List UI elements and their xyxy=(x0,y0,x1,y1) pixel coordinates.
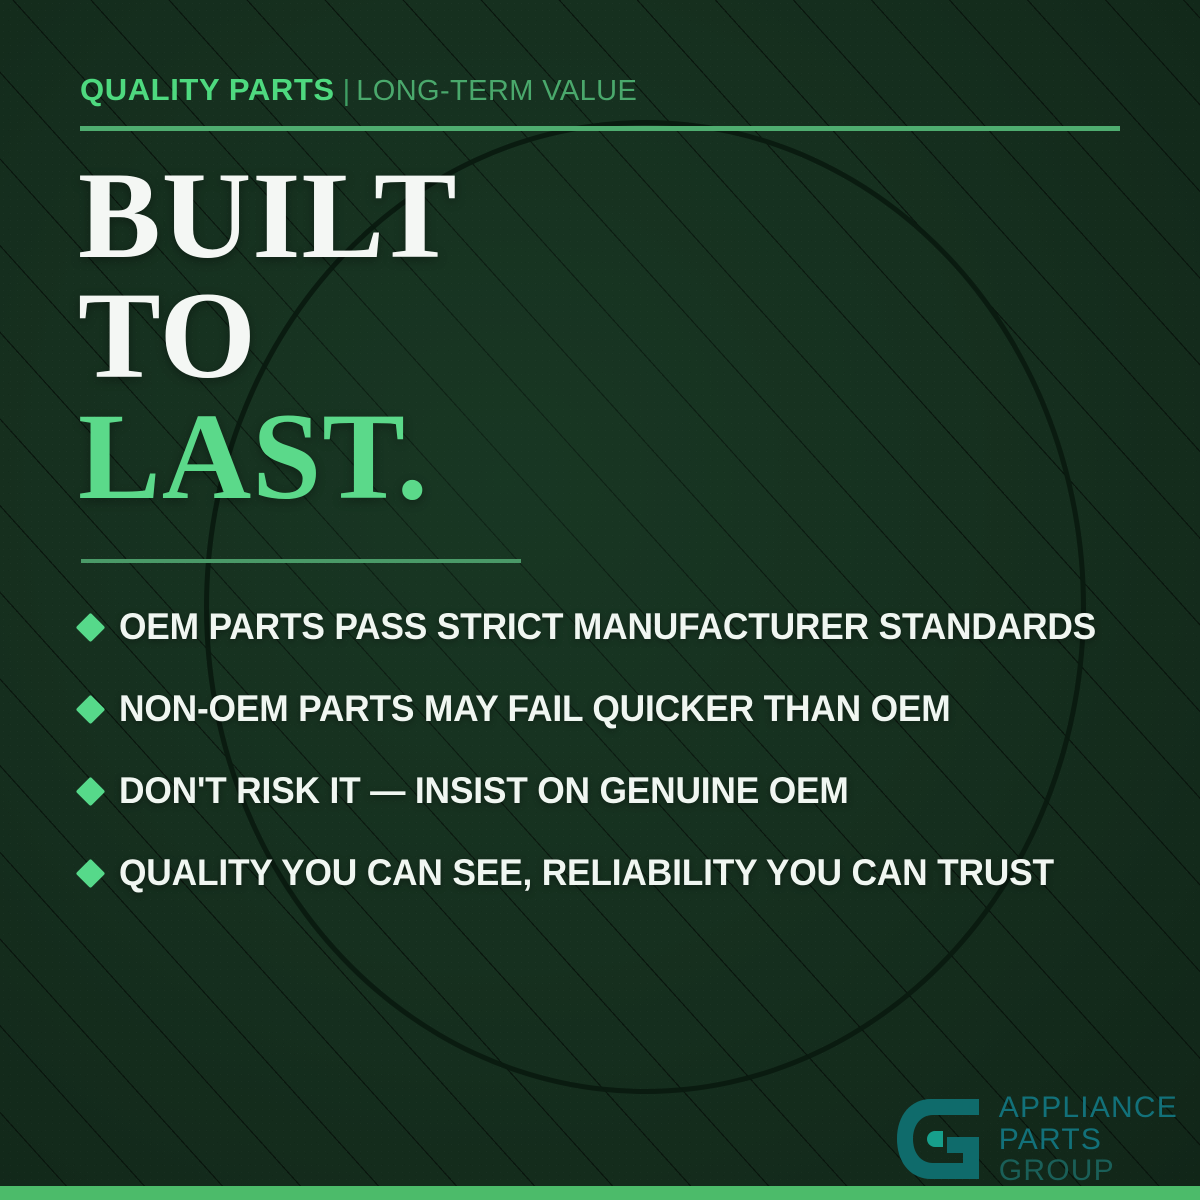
eyebrow-separator: | xyxy=(343,75,351,107)
brand-logo-wordmark: APPLIANCE PARTS GROUP xyxy=(999,1092,1178,1186)
headline-line-3: LAST. xyxy=(78,397,458,517)
diamond-icon xyxy=(76,858,106,888)
page-title: BUILT TO LAST. xyxy=(78,156,458,517)
list-item: NON-OEM PARTS MAY FAIL QUICKER THAN OEM xyxy=(80,668,1160,750)
diamond-icon xyxy=(76,612,106,642)
list-item-label: OEM PARTS PASS STRICT MANUFACTURER STAND… xyxy=(119,606,1096,648)
poster-canvas: QUALITY PARTS|LONG-TERM VALUE BUILT TO L… xyxy=(0,0,1200,1200)
headline-line-1: BUILT xyxy=(78,156,458,276)
list-item-label: NON-OEM PARTS MAY FAIL QUICKER THAN OEM xyxy=(119,688,950,730)
list-item-label: QUALITY YOU CAN SEE, RELIABILITY YOU CAN… xyxy=(119,852,1054,894)
g-monogram-icon xyxy=(891,1093,987,1185)
header-divider-rule xyxy=(80,126,1120,131)
eyebrow-kicker: QUALITY PARTS xyxy=(80,72,335,107)
eyebrow-subtitle: LONG-TERM VALUE xyxy=(356,75,637,107)
benefit-list: OEM PARTS PASS STRICT MANUFACTURER STAND… xyxy=(80,586,1160,914)
list-item-label: DON'T RISK IT — INSIST ON GENUINE OEM xyxy=(119,770,849,812)
list-item: QUALITY YOU CAN SEE, RELIABILITY YOU CAN… xyxy=(80,832,1160,914)
brand-logo: APPLIANCE PARTS GROUP xyxy=(891,1092,1178,1186)
diamond-icon xyxy=(76,776,106,806)
brand-word-appliance: APPLIANCE xyxy=(999,1092,1178,1123)
list-item: OEM PARTS PASS STRICT MANUFACTURER STAND… xyxy=(80,586,1160,668)
eyebrow-header: QUALITY PARTS|LONG-TERM VALUE xyxy=(80,74,637,106)
bottom-accent-bar xyxy=(0,1186,1200,1200)
diamond-icon xyxy=(76,694,106,724)
headline-divider-rule xyxy=(81,559,521,563)
list-item: DON'T RISK IT — INSIST ON GENUINE OEM xyxy=(80,750,1160,832)
brand-word-group: GROUP xyxy=(999,1155,1178,1186)
headline-line-2: TO xyxy=(78,276,458,396)
brand-word-parts: PARTS xyxy=(999,1124,1178,1155)
poster-content: QUALITY PARTS|LONG-TERM VALUE BUILT TO L… xyxy=(0,0,1200,1200)
